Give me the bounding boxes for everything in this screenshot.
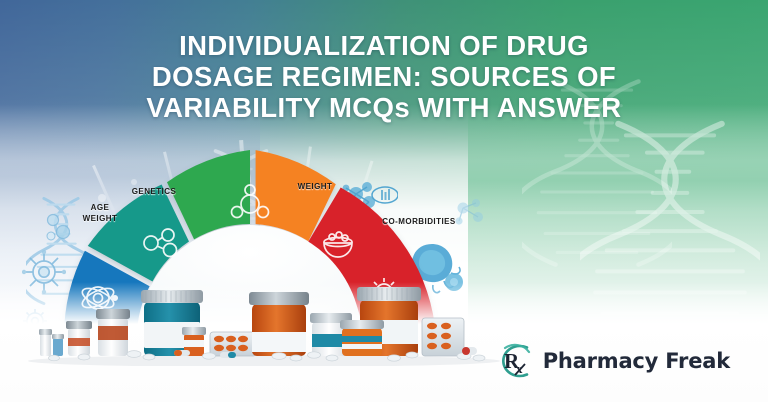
- blister-pack: [422, 318, 464, 356]
- pill-bottles-icon: [24, 276, 504, 366]
- title-line-3: VARIABILITY MCQs WITH ANSWER: [54, 92, 714, 123]
- bottle-striped: [340, 320, 384, 356]
- arc-label-weight: WEIGHT: [281, 181, 349, 192]
- arc-label-comorbidities: CO-MORBIDITIES: [369, 216, 469, 227]
- promo-banner: INDIVIDUALIZATION OF DRUG DOSAGE REGIMEN…: [0, 0, 768, 402]
- pill-bottles-group: [24, 276, 504, 366]
- brand-name: Pharmacy Freak: [543, 349, 730, 373]
- title-line-1: INDIVIDUALIZATION OF DRUG: [54, 30, 714, 61]
- banner-title: INDIVIDUALIZATION OF DRUG DOSAGE REGIMEN…: [0, 30, 768, 123]
- rx-circle-icon: R x: [493, 342, 539, 380]
- brand-logo[interactable]: R x Pharmacy Freak: [493, 342, 730, 380]
- bottle-medium: [96, 309, 130, 356]
- arc-label-age-weight: AGE WEIGHT: [73, 202, 127, 224]
- title-line-2: DOSAGE REGIMEN: SOURCES OF: [54, 61, 714, 92]
- bottle-small: [39, 329, 64, 356]
- arc-label-genetics: GENETICS: [118, 186, 190, 197]
- bottle-small: [66, 321, 92, 356]
- bottle-large-amber: [249, 292, 309, 356]
